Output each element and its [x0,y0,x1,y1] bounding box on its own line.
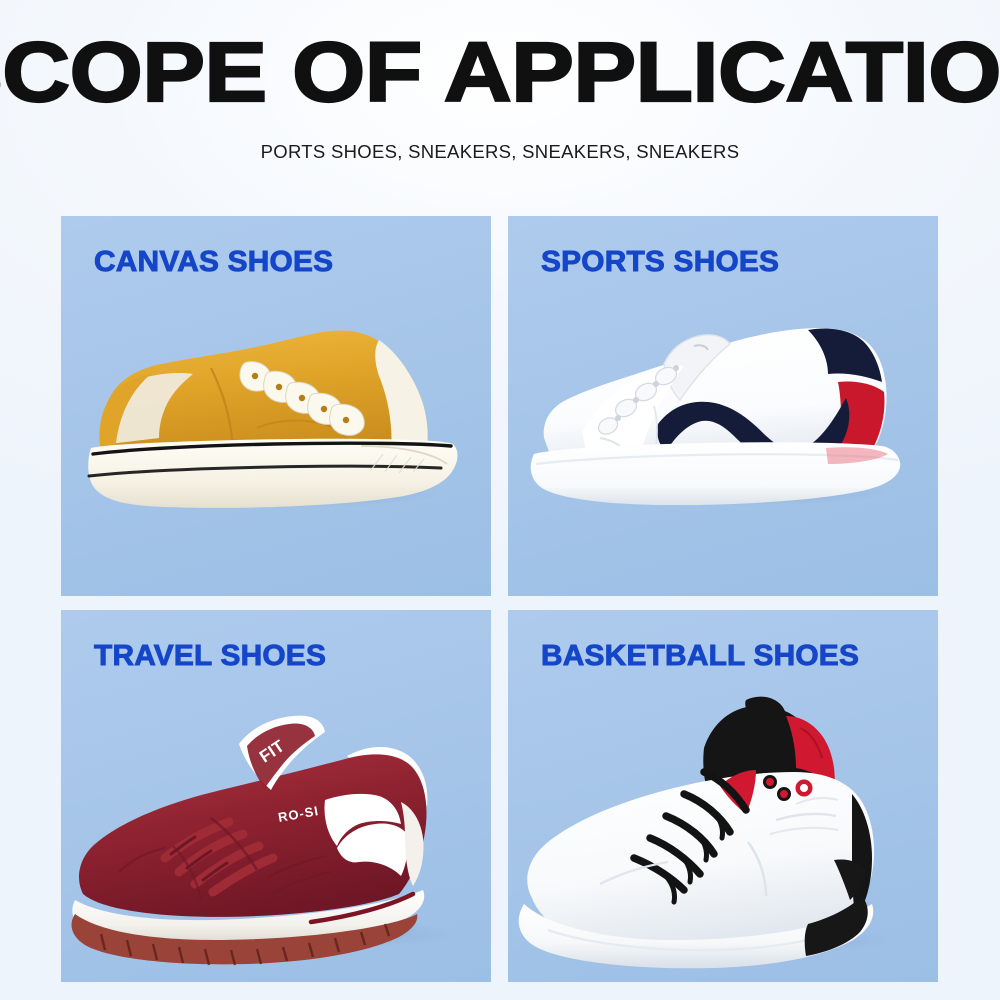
card-canvas-shoes[interactable]: CANVAS SHOES [61,216,491,596]
shoe-category-grid: CANVAS SHOES [61,216,938,982]
page-header: SCOPE OF APPLICATION PORTS SHOES, SNEAKE… [0,0,1000,163]
travel-shoe-stage: FIT [61,682,491,982]
white-sports-sneaker-icon [508,288,938,596]
card-basketball-shoes[interactable]: BASKETBALL SHOES [508,610,938,982]
card-travel-shoes[interactable]: TRAVEL SHOES [61,610,491,982]
card-label-travel-shoes: TRAVEL SHOES [94,640,326,673]
page-subtitle: PORTS SHOES, SNEAKERS, SNEAKERS, SNEAKER… [0,141,1000,163]
card-sports-shoes[interactable]: SPORTS SHOES [508,216,938,596]
canvas-sneaker-icon [61,288,491,596]
sports-shoe-stage [508,288,938,596]
page-title: SCOPE OF APPLICATION [0,34,1000,111]
card-label-canvas-shoes: CANVAS SHOES [94,246,333,279]
card-label-basketball-shoes: BASKETBALL SHOES [541,640,859,673]
canvas-shoe-stage [61,288,491,596]
card-label-sports-shoes: SPORTS SHOES [541,246,779,279]
basketball-shoe-stage [508,682,938,982]
burgundy-running-shoe-icon: FIT [61,682,491,982]
white-basketball-shoe-icon [508,682,938,982]
